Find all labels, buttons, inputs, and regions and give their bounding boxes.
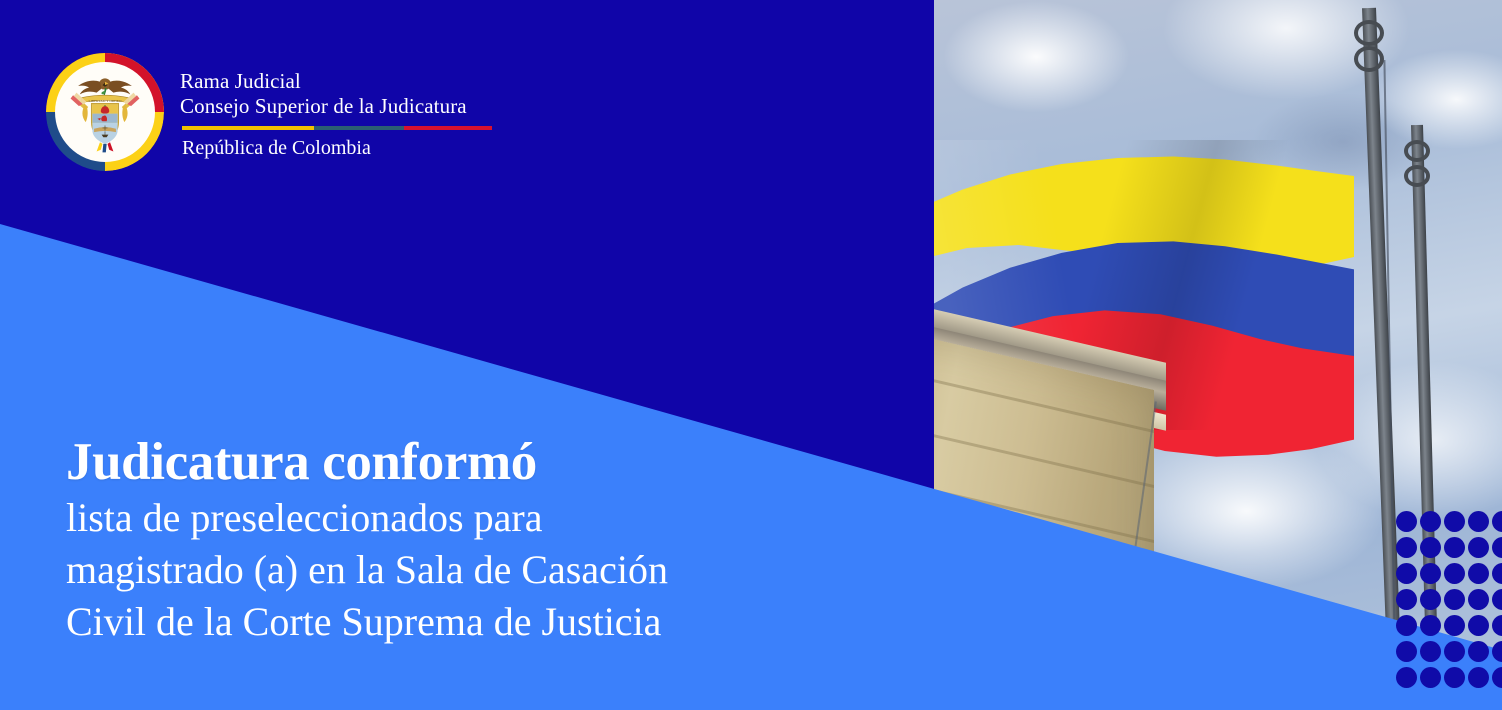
flag-photo: [934, 0, 1502, 710]
brand-line-rama-judicial: Rama Judicial: [180, 69, 492, 94]
flagpole-cleat: [1404, 140, 1430, 162]
judicial-banner: LIBERTAD Y ORDEN: [0, 0, 1502, 710]
coat-of-arms-drawing: LIBERTAD Y ORDEN: [63, 70, 147, 154]
brand-line-republica: República de Colombia: [180, 136, 492, 160]
brand-lockup: LIBERTAD Y ORDEN: [46, 53, 492, 171]
divider-segment-teal: [314, 126, 404, 130]
headline-block: Judicatura conformó lista de preseleccio…: [66, 432, 766, 648]
brand-divider: [182, 126, 492, 130]
svg-text:LIBERTAD Y ORDEN: LIBERTAD Y ORDEN: [88, 99, 121, 103]
divider-segment-red: [404, 126, 492, 130]
headline-secondary-line-1: lista de preseleccionados para: [66, 492, 766, 544]
brand-line-consejo-superior: Consejo Superior de la Judicatura: [180, 94, 492, 119]
headline-secondary-line-3: Civil de la Corte Suprema de Justicia: [66, 596, 766, 648]
colombia-coat-of-arms-icon: LIBERTAD Y ORDEN: [46, 53, 164, 171]
brand-text-block: Rama Judicial Consejo Superior de la Jud…: [180, 53, 492, 160]
flagpole-cleat: [1354, 46, 1384, 72]
flagpole-cleat: [1354, 20, 1384, 46]
divider-segment-yellow: [182, 126, 314, 130]
seal-inner-disc: LIBERTAD Y ORDEN: [55, 62, 155, 162]
headline-secondary-line-2: magistrado (a) en la Sala de Casación: [66, 544, 766, 596]
headline-primary: Judicatura conformó: [66, 432, 766, 492]
headline-secondary: lista de preseleccionados para magistrad…: [66, 492, 766, 648]
flagpole-cleat: [1404, 165, 1430, 187]
